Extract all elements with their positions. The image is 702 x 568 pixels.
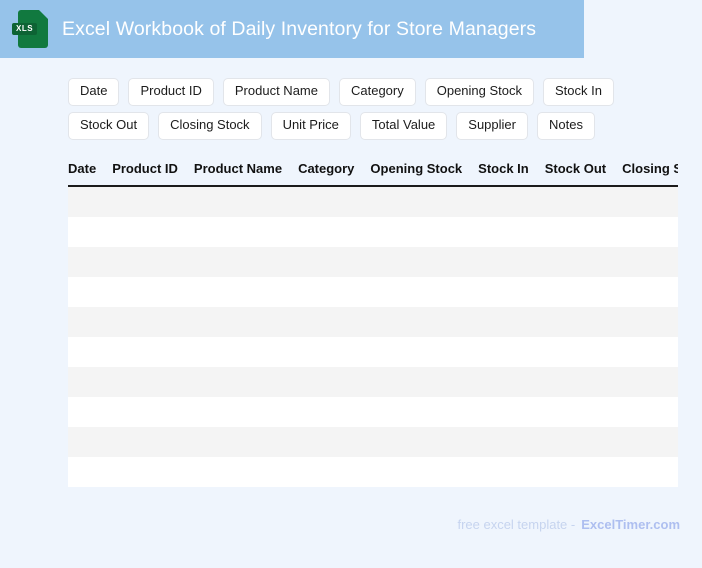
- table-cell[interactable]: [68, 307, 112, 337]
- table-cell[interactable]: [622, 427, 678, 457]
- table-cell[interactable]: [68, 457, 112, 487]
- table-cell[interactable]: [545, 337, 622, 367]
- col-header-product-name[interactable]: Product Name: [194, 161, 298, 186]
- footer-label: free excel template -: [457, 517, 575, 532]
- table-cell[interactable]: [370, 427, 478, 457]
- table-cell[interactable]: [545, 217, 622, 247]
- chip-date[interactable]: Date: [68, 78, 119, 106]
- table-row[interactable]: [68, 217, 678, 247]
- table-row[interactable]: [68, 277, 678, 307]
- table-cell[interactable]: [478, 247, 545, 277]
- table-cell[interactable]: [194, 217, 298, 247]
- table-cell[interactable]: [622, 277, 678, 307]
- table-cell[interactable]: [545, 247, 622, 277]
- table-cell[interactable]: [298, 337, 370, 367]
- table-cell[interactable]: [370, 217, 478, 247]
- table-row[interactable]: [68, 427, 678, 457]
- table-cell[interactable]: [194, 427, 298, 457]
- table-cell[interactable]: [68, 217, 112, 247]
- inventory-table-body: [68, 186, 678, 487]
- inventory-table-head: Date Product ID Product Name Category Op…: [68, 161, 678, 186]
- table-cell[interactable]: [112, 247, 194, 277]
- table-row[interactable]: [68, 457, 678, 487]
- chip-total-value[interactable]: Total Value: [360, 112, 447, 140]
- table-cell[interactable]: [68, 427, 112, 457]
- table-row[interactable]: [68, 367, 678, 397]
- table-cell[interactable]: [370, 307, 478, 337]
- table-cell[interactable]: [370, 186, 478, 217]
- table-cell[interactable]: [370, 337, 478, 367]
- chip-opening-stock[interactable]: Opening Stock: [425, 78, 534, 106]
- chip-unit-price[interactable]: Unit Price: [271, 112, 351, 140]
- table-cell[interactable]: [298, 427, 370, 457]
- chip-supplier[interactable]: Supplier: [456, 112, 528, 140]
- table-cell[interactable]: [194, 186, 298, 217]
- table-cell[interactable]: [622, 397, 678, 427]
- table-cell[interactable]: [298, 307, 370, 337]
- table-cell[interactable]: [298, 247, 370, 277]
- table-cell[interactable]: [68, 367, 112, 397]
- table-cell[interactable]: [545, 457, 622, 487]
- table-cell[interactable]: [545, 367, 622, 397]
- table-cell[interactable]: [545, 307, 622, 337]
- table-cell[interactable]: [112, 397, 194, 427]
- table-cell[interactable]: [194, 337, 298, 367]
- table-cell[interactable]: [622, 247, 678, 277]
- table-cell[interactable]: [478, 367, 545, 397]
- table-cell[interactable]: [622, 217, 678, 247]
- table-cell[interactable]: [298, 277, 370, 307]
- table-cell[interactable]: [545, 397, 622, 427]
- table-cell[interactable]: [478, 217, 545, 247]
- table-cell[interactable]: [478, 337, 545, 367]
- table-cell[interactable]: [298, 457, 370, 487]
- table-cell[interactable]: [370, 367, 478, 397]
- table-row[interactable]: [68, 247, 678, 277]
- table-cell[interactable]: [622, 367, 678, 397]
- col-header-opening-stock[interactable]: Opening Stock: [370, 161, 478, 186]
- footer-brand-link[interactable]: ExcelTimer.com: [581, 517, 680, 532]
- xls-file-icon: XLS: [18, 10, 48, 48]
- table-cell[interactable]: [298, 217, 370, 247]
- table-cell[interactable]: [298, 186, 370, 217]
- table-cell[interactable]: [478, 307, 545, 337]
- chip-notes[interactable]: Notes: [537, 112, 595, 140]
- table-cell[interactable]: [194, 247, 298, 277]
- table-cell[interactable]: [194, 277, 298, 307]
- table-cell[interactable]: [622, 457, 678, 487]
- table-cell[interactable]: [478, 397, 545, 427]
- table-cell[interactable]: [478, 277, 545, 307]
- page-title: Excel Workbook of Daily Inventory for St…: [62, 18, 536, 41]
- table-cell[interactable]: [370, 397, 478, 427]
- table-cell[interactable]: [370, 277, 478, 307]
- table-cell[interactable]: [112, 427, 194, 457]
- chip-closing-stock[interactable]: Closing Stock: [158, 112, 261, 140]
- footer-credit: free excel template -ExcelTimer.com: [457, 517, 680, 532]
- xls-icon-fold-corner: [39, 10, 48, 19]
- content-area: Date Product ID Product Name Category Op…: [68, 78, 678, 487]
- chip-product-name[interactable]: Product Name: [223, 78, 330, 106]
- col-header-product-id[interactable]: Product ID: [112, 161, 194, 186]
- table-cell[interactable]: [545, 427, 622, 457]
- table-header-row: Date Product ID Product Name Category Op…: [68, 161, 678, 186]
- inventory-table: Date Product ID Product Name Category Op…: [68, 161, 678, 487]
- table-cell[interactable]: [622, 307, 678, 337]
- table-cell[interactable]: [68, 186, 112, 217]
- inventory-table-wrapper[interactable]: Date Product ID Product Name Category Op…: [68, 161, 678, 487]
- column-chip-row-1: Date Product ID Product Name Category Op…: [68, 78, 648, 106]
- column-chip-row-2: Stock Out Closing Stock Unit Price Total…: [68, 112, 648, 140]
- table-cell[interactable]: [112, 186, 194, 217]
- xls-icon-badge-label: XLS: [12, 23, 37, 35]
- table-cell[interactable]: [194, 457, 298, 487]
- table-cell[interactable]: [68, 337, 112, 367]
- table-cell[interactable]: [478, 457, 545, 487]
- table-row[interactable]: [68, 397, 678, 427]
- table-cell[interactable]: [112, 307, 194, 337]
- table-cell[interactable]: [478, 186, 545, 217]
- col-header-stock-out[interactable]: Stock Out: [545, 161, 622, 186]
- table-cell[interactable]: [68, 247, 112, 277]
- col-header-stock-in[interactable]: Stock In: [478, 161, 545, 186]
- col-header-category[interactable]: Category: [298, 161, 370, 186]
- table-cell[interactable]: [370, 457, 478, 487]
- chip-product-id[interactable]: Product ID: [128, 78, 213, 106]
- table-cell[interactable]: [68, 397, 112, 427]
- table-cell[interactable]: [68, 277, 112, 307]
- table-cell[interactable]: [112, 277, 194, 307]
- table-cell[interactable]: [112, 457, 194, 487]
- table-row[interactable]: [68, 307, 678, 337]
- table-cell[interactable]: [622, 337, 678, 367]
- chip-category[interactable]: Category: [339, 78, 416, 106]
- col-header-closing-stock[interactable]: Closing Stock: [622, 161, 678, 186]
- table-cell[interactable]: [112, 337, 194, 367]
- table-cell[interactable]: [370, 247, 478, 277]
- table-cell[interactable]: [194, 397, 298, 427]
- table-cell[interactable]: [112, 367, 194, 397]
- table-cell[interactable]: [298, 397, 370, 427]
- chip-stock-out[interactable]: Stock Out: [68, 112, 149, 140]
- column-chip-list: Date Product ID Product Name Category Op…: [68, 78, 648, 140]
- table-cell[interactable]: [478, 427, 545, 457]
- chip-stock-in[interactable]: Stock In: [543, 78, 614, 106]
- table-cell[interactable]: [622, 186, 678, 217]
- table-cell[interactable]: [194, 367, 298, 397]
- table-cell[interactable]: [545, 186, 622, 217]
- col-header-date[interactable]: Date: [68, 161, 112, 186]
- table-cell[interactable]: [112, 217, 194, 247]
- table-cell[interactable]: [545, 277, 622, 307]
- app-header-bar: XLS Excel Workbook of Daily Inventory fo…: [0, 0, 584, 58]
- table-row[interactable]: [68, 337, 678, 367]
- table-cell[interactable]: [194, 307, 298, 337]
- table-row[interactable]: [68, 186, 678, 217]
- table-cell[interactable]: [298, 367, 370, 397]
